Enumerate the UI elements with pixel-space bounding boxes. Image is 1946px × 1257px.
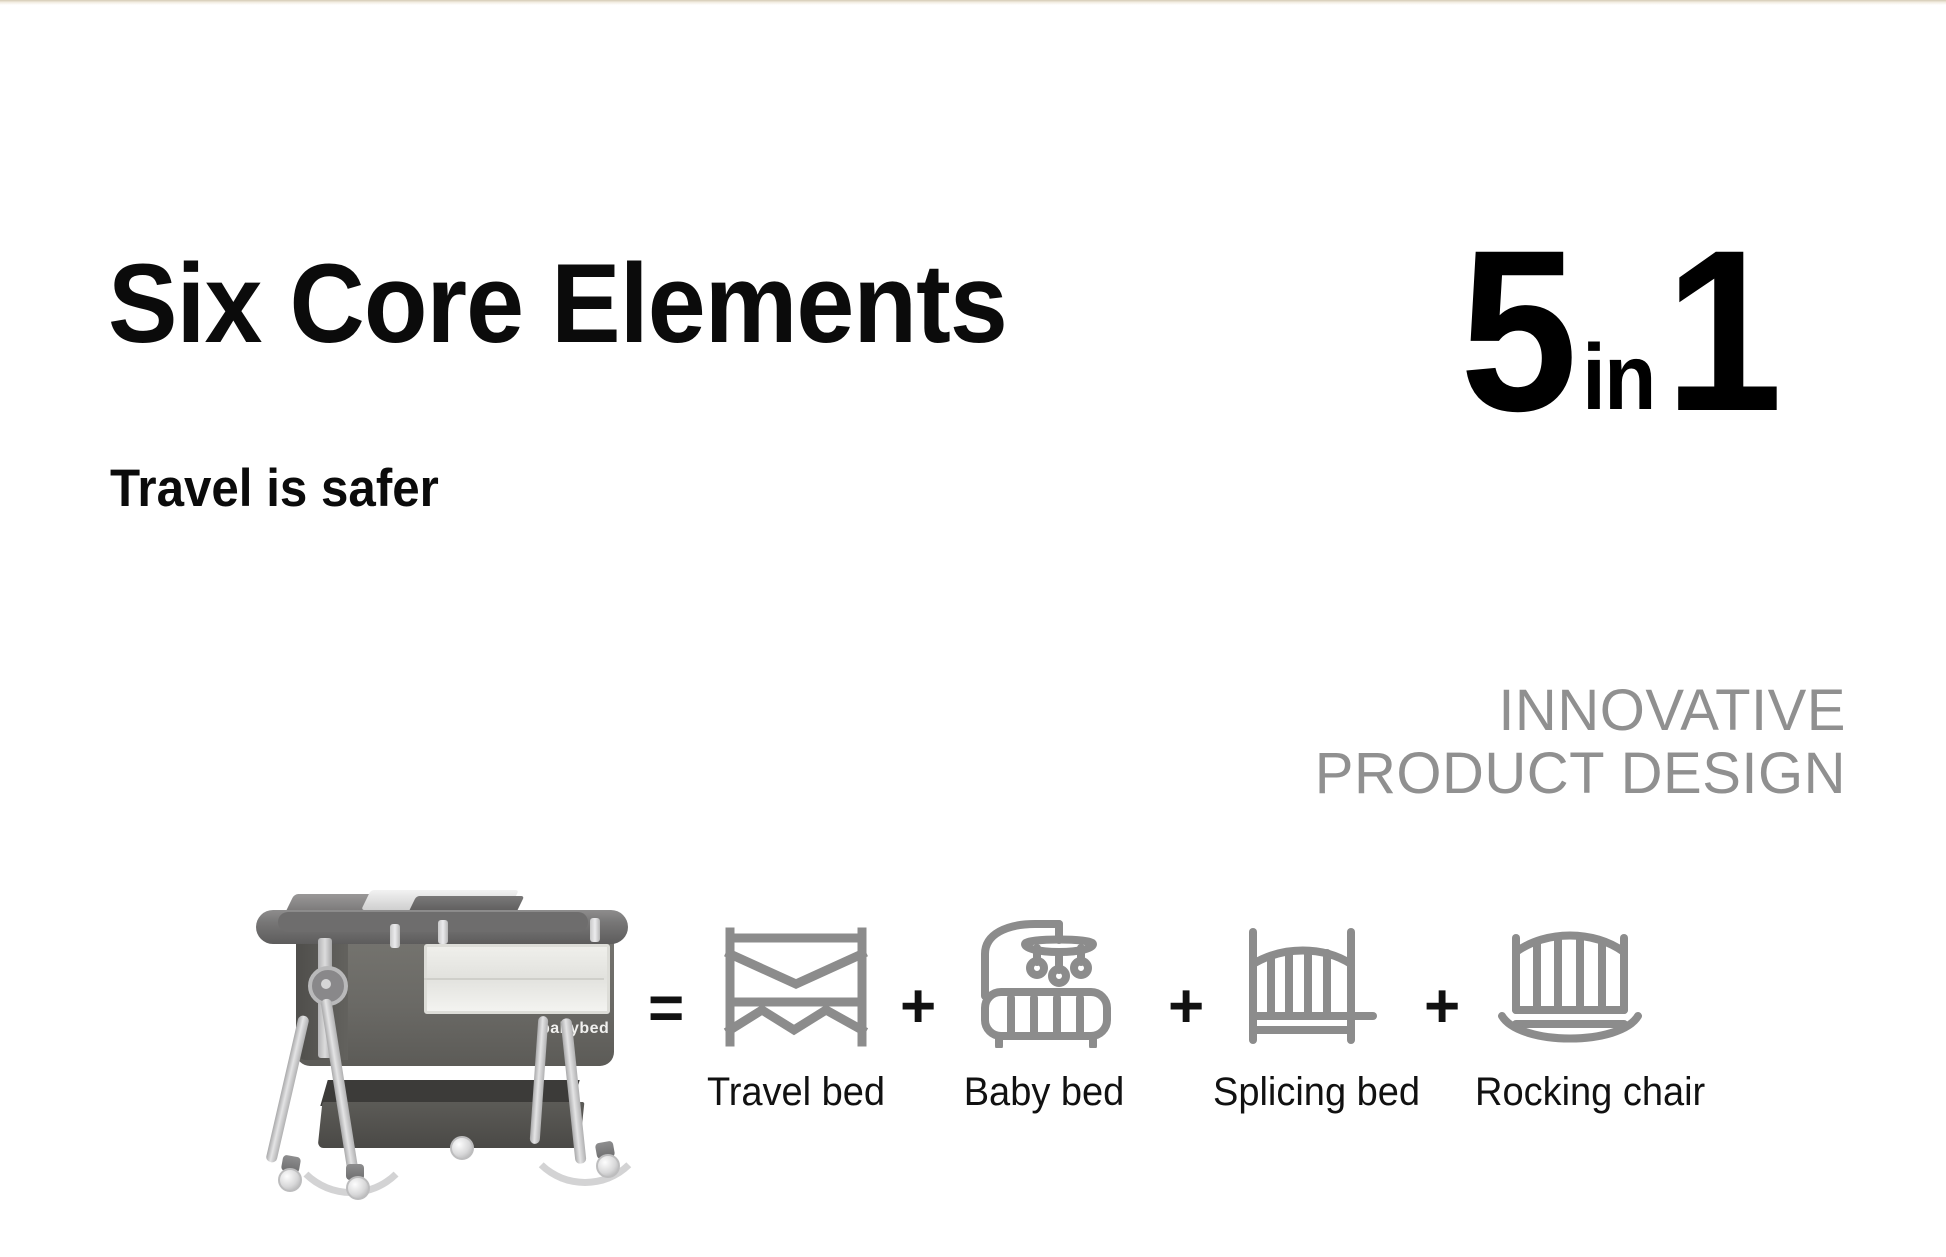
plus-sign-2: +: [1168, 976, 1204, 1038]
plus-sign-3: +: [1424, 976, 1460, 1038]
tagline: INNOVATIVE PRODUCT DESIGN: [1315, 680, 1846, 805]
brand-logo: babybed: [540, 1020, 609, 1038]
tagline-line-1: INNOVATIVE: [1315, 680, 1846, 743]
badge-count: 5: [1460, 241, 1572, 420]
top-edge-tint: [0, 0, 1946, 5]
rocking-chair-icon: [1470, 918, 1670, 1048]
page-subtitle: Travel is safer: [110, 462, 439, 515]
wheel-right: [596, 1154, 620, 1178]
product-image-bassinet: babybed: [238, 868, 658, 1198]
five-in-one-badge: 5 in 1: [1455, 200, 1782, 420]
mesh-window-seam: [424, 978, 604, 980]
equation-label-baby-bed: Baby bed: [949, 1070, 1139, 1115]
equation-item-rocking-chair: Rocking chair: [1470, 918, 1670, 1115]
wheel-front: [346, 1176, 370, 1200]
badge-joiner: in: [1580, 341, 1656, 420]
equation-label-rocking-chair: Rocking chair: [1475, 1070, 1665, 1115]
equation-label-travel-bed: Travel bed: [701, 1070, 891, 1115]
baby-bed-icon: [944, 918, 1144, 1048]
tagline-line-2: PRODUCT DESIGN: [1315, 743, 1846, 806]
equation-label-splicing-bed: Splicing bed: [1213, 1070, 1403, 1115]
rim-clip-mid: [438, 920, 448, 944]
badge-total: 1: [1664, 241, 1776, 420]
rocker-rail-right: [520, 1060, 650, 1186]
equation-item-splicing-bed: Splicing bed: [1208, 918, 1408, 1115]
product-equation: = Travel bed +: [648, 918, 1888, 1178]
equation-item-travel-bed: Travel bed: [696, 918, 896, 1115]
bassinet-rim-inner: [278, 912, 588, 932]
rim-clip-left: [390, 924, 400, 948]
travel-bed-icon: [696, 918, 896, 1048]
equation-item-baby-bed: Baby bed: [944, 918, 1144, 1115]
rim-clip-right: [590, 918, 600, 942]
plus-sign-1: +: [900, 976, 936, 1038]
wheel-left: [278, 1168, 302, 1192]
splicing-bed-icon: [1208, 918, 1408, 1048]
page-title: Six Core Elements: [108, 248, 1007, 360]
equals-sign: =: [648, 978, 684, 1040]
wheel-center: [450, 1136, 474, 1160]
product-feature-poster: Six Core Elements Travel is safer 5 in 1…: [0, 0, 1946, 1257]
